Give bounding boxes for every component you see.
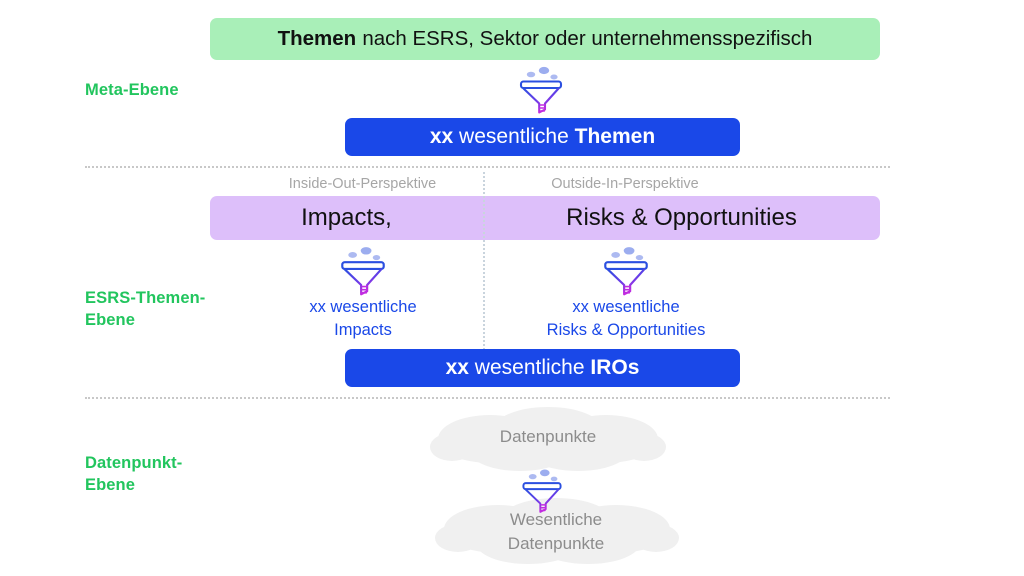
- band-text-risks-opportunities: Risks & Opportunities: [483, 196, 880, 240]
- funnel-caption-impacts: xx wesentliche Impacts: [273, 296, 453, 342]
- result-bar-themen-suffix: Themen: [575, 125, 656, 149]
- funnel-caption-risks-opportunities: xx wesentliche Risks & Opportunities: [516, 296, 736, 342]
- themen-banner-rest: nach ESRS, Sektor oder unternehmensspezi…: [362, 27, 812, 51]
- funnel-icon-impacts: [334, 242, 392, 300]
- band-text-impacts: Impacts,: [210, 196, 483, 240]
- perspective-label-outside-in: Outside-In-Perspektive: [535, 176, 715, 192]
- impacts-risks-band: Impacts, Risks & Opportunities: [210, 196, 880, 240]
- result-bar-iros-prefix: xx: [446, 356, 469, 380]
- perspective-label-inside-out: Inside-Out-Perspektive: [275, 176, 450, 192]
- level-label-esrs-themen: ESRS-Themen- Ebene: [85, 287, 205, 331]
- cloud-label-datenpunkte: Datenpunkte: [428, 425, 668, 449]
- result-bar-themen-prefix: xx: [430, 125, 453, 149]
- divider-perspectives: [483, 172, 485, 350]
- funnel-icon-meta: [513, 62, 569, 118]
- result-bar-iros-light: wesentliche: [475, 356, 585, 380]
- result-bar-themen: xxwesentlicheThemen: [345, 118, 740, 156]
- funnel-icon-risks-opportunities: [597, 242, 655, 300]
- level-label-datenpunkt: Datenpunkt- Ebene: [85, 452, 182, 496]
- result-bar-iros-suffix: IROs: [590, 356, 639, 380]
- level-label-meta: Meta-Ebene: [85, 79, 179, 101]
- themen-title-banner: Themennach ESRS, Sektor oder unternehmen…: [210, 18, 880, 60]
- funnel-icon-datenpunkte: [516, 465, 568, 517]
- result-bar-iros: xxwesentlicheIROs: [345, 349, 740, 387]
- divider-meta-esrs: [85, 166, 890, 168]
- themen-banner-bold: Themen: [278, 27, 357, 51]
- result-bar-themen-light: wesentliche: [459, 125, 569, 149]
- divider-esrs-datapoint: [85, 397, 890, 399]
- diagram-canvas: Themennach ESRS, Sektor oder unternehmen…: [0, 0, 1024, 576]
